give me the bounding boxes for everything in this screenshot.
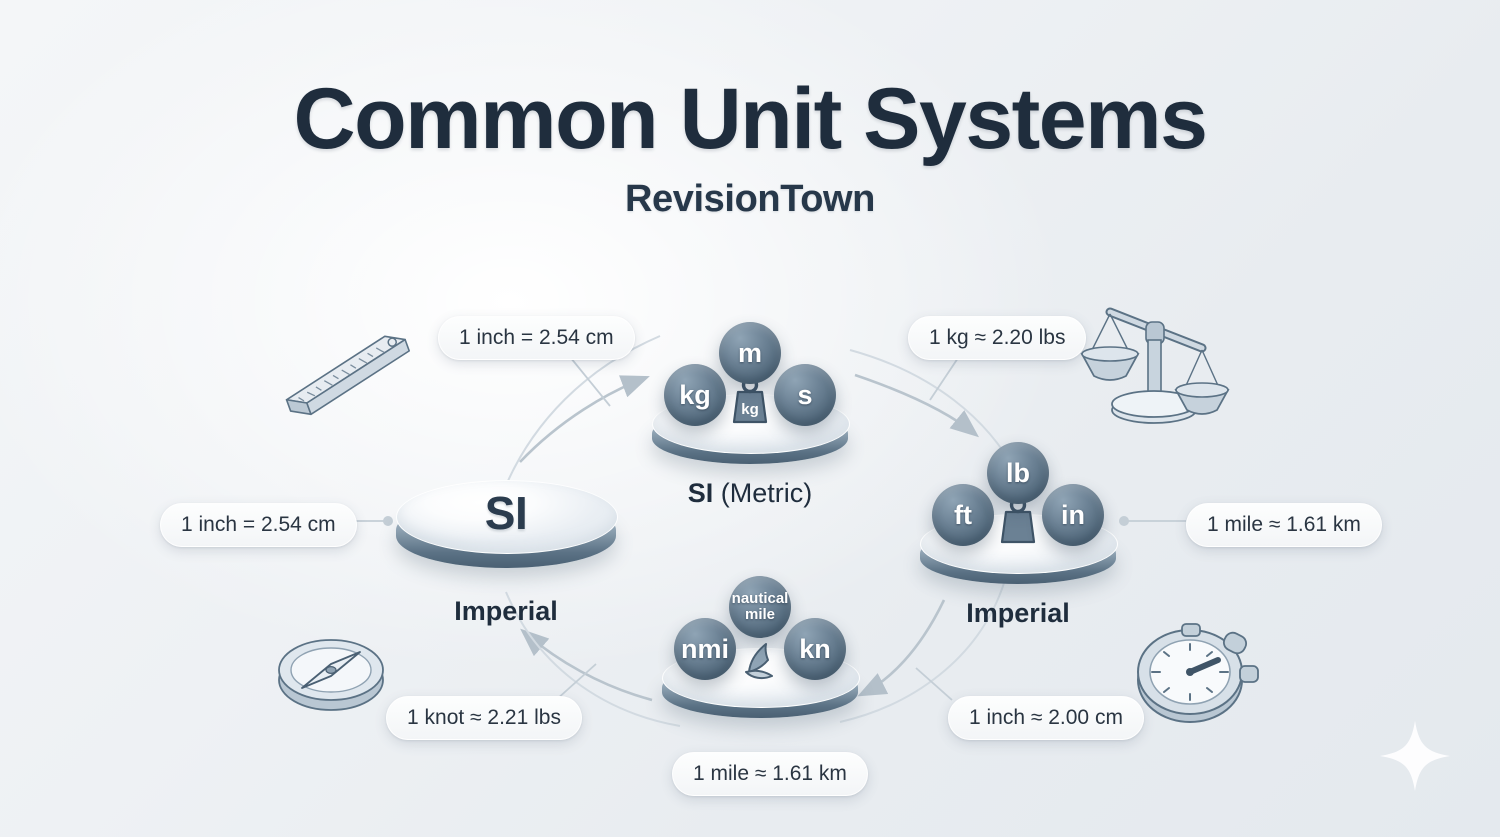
balance-scale-icon [1062,292,1238,428]
node-si-metric[interactable]: kg kg m s SI (Metric) [630,308,870,518]
disc-label-si: SI [396,486,616,540]
unit-bubble-in[interactable]: in [1042,484,1104,546]
badge-top-left[interactable]: 1 inch = 2.54 cm [438,316,635,360]
badge-bottom-right[interactable]: 1 inch ≈ 2.00 cm [948,696,1144,740]
badge-mid-left[interactable]: 1 inch = 2.54 cm [160,503,357,547]
unit-bubble-nautical-mile[interactable]: nautical mile [729,576,791,638]
badge-bottom-center[interactable]: 1 mile ≈ 1.61 km [672,752,868,796]
caption-bold: Imperial [454,596,558,626]
disc-imperial-left: SI [396,480,616,572]
caption-bold: Imperial [966,598,1070,628]
unit-bubble-m[interactable]: m [719,322,781,384]
caption-bold: SI [688,478,714,508]
svg-text:kg: kg [741,401,759,418]
stopwatch-icon [1124,608,1268,734]
unit-bubble-nmi[interactable]: nmi [674,618,736,680]
badge-mid-right[interactable]: 1 mile ≈ 1.61 km [1186,503,1382,547]
unit-bubble-ft[interactable]: ft [932,484,994,546]
node-caption-imperial-left: Imperial [356,596,656,627]
unit-bubble-s[interactable]: s [774,364,836,426]
badge-bottom-left[interactable]: 1 knot ≈ 2.21 lbs [386,696,582,740]
unit-bubble-kg[interactable]: kg [664,364,726,426]
caption-light: (Metric) [713,478,812,508]
diagram: kg kg m s SI (Metric) ft lb in Imperial [0,0,1500,837]
unit-bubble-kn[interactable]: kn [784,618,846,680]
infographic-canvas: Common Unit Systems RevisionTown [0,0,1500,837]
badge-top-right[interactable]: 1 kg ≈ 2.20 lbs [908,316,1086,360]
compass-icon [268,618,394,724]
node-imperial-left[interactable]: SI Imperial [386,420,626,630]
unit-bubble-lb[interactable]: lb [987,442,1049,504]
ruler-icon [268,326,424,426]
sparkle-icon [1378,719,1452,793]
node-caption-imperial-right: Imperial [868,598,1168,629]
node-nautical[interactable]: nmi nautical mile kn [640,562,880,772]
node-imperial-right[interactable]: ft lb in Imperial [898,428,1138,638]
node-caption-si: SI (Metric) [600,478,900,509]
